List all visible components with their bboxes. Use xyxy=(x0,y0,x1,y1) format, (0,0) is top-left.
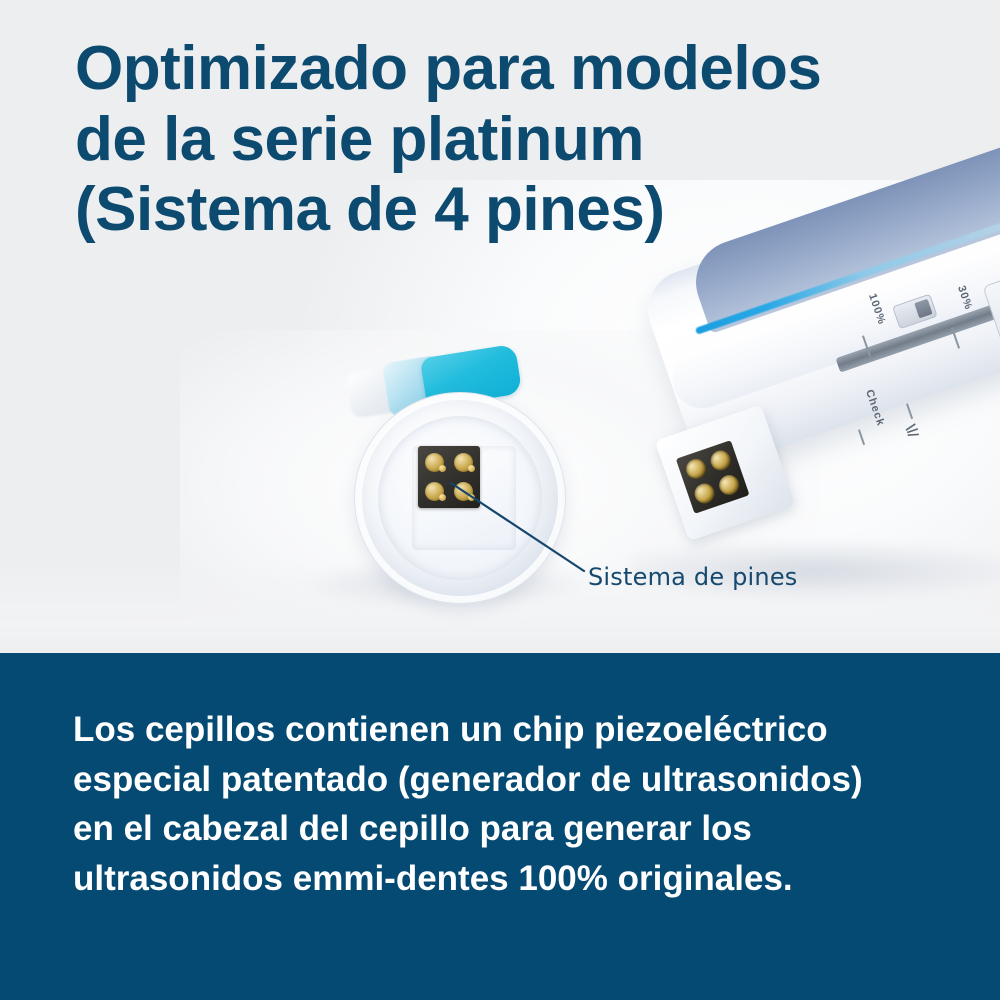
band-line-3: en el cabezal del cepillo para generar l… xyxy=(73,804,953,854)
tick-mark-brush xyxy=(906,403,913,419)
pin-tip-4 xyxy=(468,494,475,501)
band-line-2: especial patentado (generador de ultraso… xyxy=(73,755,953,805)
pin-tip-3 xyxy=(439,494,446,501)
tick-mark-check xyxy=(858,429,865,445)
headline-line-2: de la serie platinum xyxy=(75,105,975,176)
pin-tip-1 xyxy=(439,465,446,472)
brush-head-image xyxy=(330,350,600,590)
pin-socket-2 xyxy=(708,448,733,473)
band-paragraph: Los cepillos contienen un chip piezoeléc… xyxy=(73,705,953,904)
pin-socket-3 xyxy=(692,481,717,506)
pin-tip-2 xyxy=(468,465,475,472)
pin-socket-4 xyxy=(716,472,741,497)
band-line-1: Los cepillos contienen un chip piezoeléc… xyxy=(73,705,953,755)
blue-info-band: Los cepillos contienen un chip piezoeléc… xyxy=(0,653,1000,1000)
band-line-4: ultrasonidos emmi-dentes 100% originales… xyxy=(73,854,953,904)
switch-knob xyxy=(914,299,932,319)
headline-line-1: Optimizado para modelos xyxy=(75,34,975,105)
hero-photo-section: 100% 30% Check ⚟ Sistema de pines Optimi… xyxy=(0,0,1000,653)
page-title: Optimizado para modelos de la serie plat… xyxy=(75,34,975,246)
brush-head-pin-chip xyxy=(418,446,480,508)
brush-icon: ⚟ xyxy=(902,419,928,446)
handle-pin-chip xyxy=(676,440,750,514)
headline-line-3: (Sistema de 4 pines) xyxy=(75,175,975,246)
callout-label: Sistema de pines xyxy=(588,563,798,591)
pin-socket-1 xyxy=(683,456,708,481)
